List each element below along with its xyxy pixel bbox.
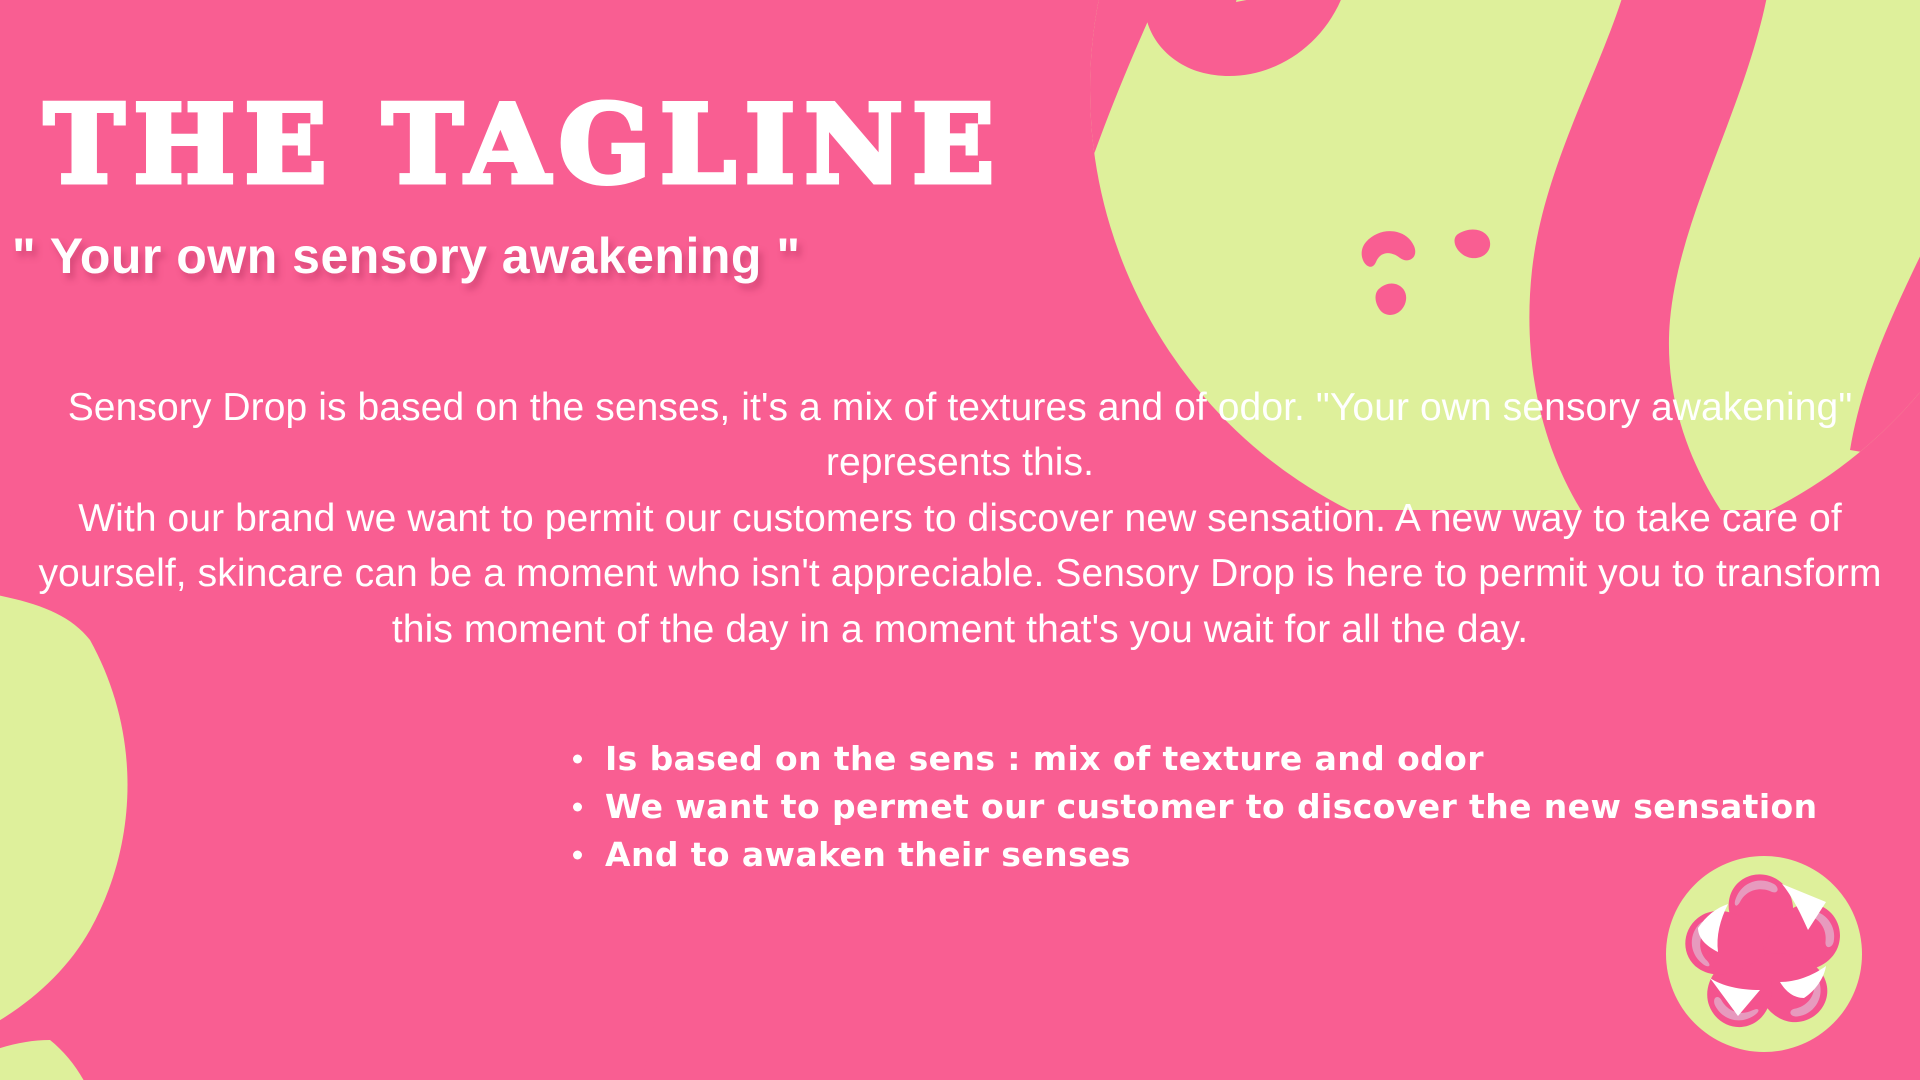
description-paragraph-2: With our brand we want to permit our cus…	[6, 491, 1914, 657]
tagline-quote: " Your own sensory awakening "	[12, 227, 801, 285]
description-block: Sensory Drop is based on the senses, it'…	[0, 380, 1920, 657]
list-item: Is based on the sens : mix of texture an…	[569, 735, 1818, 783]
abstract-green-chip-left-edge	[0, 660, 42, 770]
slide-canvas: THE TAGLINE " Your own sensory awakening…	[0, 0, 1920, 1080]
list-item: And to awaken their senses	[569, 831, 1818, 879]
key-points-list: Is based on the sens : mix of texture an…	[569, 735, 1818, 879]
page-title: THE TAGLINE	[44, 80, 1003, 212]
list-item: We want to permet our customer to discov…	[569, 783, 1818, 831]
description-paragraph-1: Sensory Drop is based on the senses, it'…	[6, 380, 1914, 491]
sensory-drop-flower-logo	[1658, 848, 1870, 1060]
